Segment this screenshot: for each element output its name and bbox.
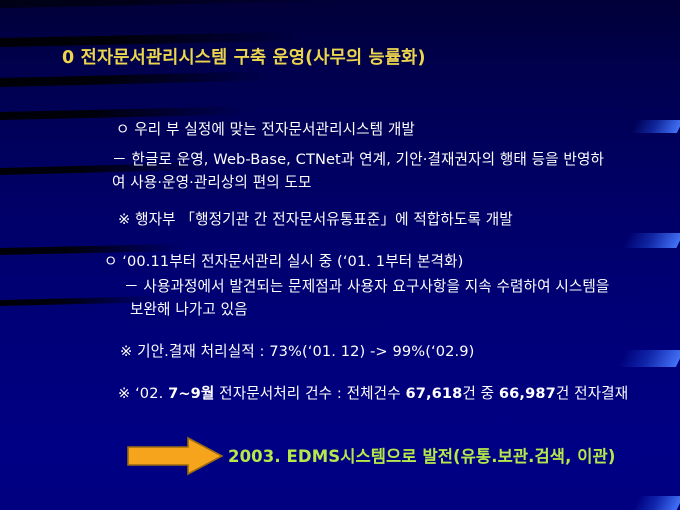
presentation-slide: 0 전자문서관리시스템 구축 운영(사무의 능률화) ㅇ 우리 부 실정에 맞는… (0, 0, 680, 510)
background-blue-streak (618, 350, 680, 367)
note-item-3: ※ ‘02. 7~9월 전자문서처리 건수 : 전체건수 67,618건 중 6… (118, 382, 628, 403)
stat-prefix: ※ ‘02. (118, 385, 168, 402)
background-blue-streak (622, 233, 680, 248)
sub-item-2-line-2: 보완해 나가고 있음 (130, 298, 248, 319)
note-item-1: ※ 행자부 「행정기관 간 전자문서유통표준」에 적합하도록 개발 (118, 208, 513, 229)
bullet-item-1: ㅇ 우리 부 실정에 맞는 전자문서관리시스템 개발 (116, 118, 415, 139)
background-blue-streak (631, 120, 680, 133)
background-dark-band (0, 71, 270, 87)
slide-title: 0 전자문서관리시스템 구축 운영(사무의 능률화) (62, 44, 426, 69)
callout-text: 2003. EDMS시스템으로 발전(유통.보관.검색, 이관) (228, 443, 615, 467)
stat-total-count: 67,618 (405, 385, 462, 402)
bullet-item-2: ㅇ ‘00.11부터 전자문서관리 실시 중 (‘01. 1부터 본격화) (104, 250, 463, 271)
stat-middle-2: 건 중 (462, 385, 499, 402)
background-blue-streak (633, 496, 680, 510)
background-dark-band (0, 0, 340, 8)
stat-suffix: 건 전자결재 (556, 385, 628, 402)
right-arrow-icon (126, 436, 224, 476)
note-item-2: ※ 기안.결재 처리실적 : 73%(‘01. 12) -> 99%(‘02.9… (120, 340, 474, 361)
stat-middle: 전자문서처리 건수 : 전체건수 (214, 385, 405, 402)
sub-item-2-line-1: － 사용과정에서 발견되는 문제점과 사용자 요구사항을 지속 수렴하여 시스템… (124, 275, 609, 296)
stat-electronic-count: 66,987 (499, 385, 556, 402)
stat-period: 7~9월 (168, 385, 214, 402)
sub-item-1-line-2: 여 사용·운영·관리상의 편의 도모 (112, 171, 312, 192)
sub-item-1-line-1: － 한글로 운영, Web-Base, CTNet과 연계, 기안·결재권자의 … (112, 148, 604, 169)
